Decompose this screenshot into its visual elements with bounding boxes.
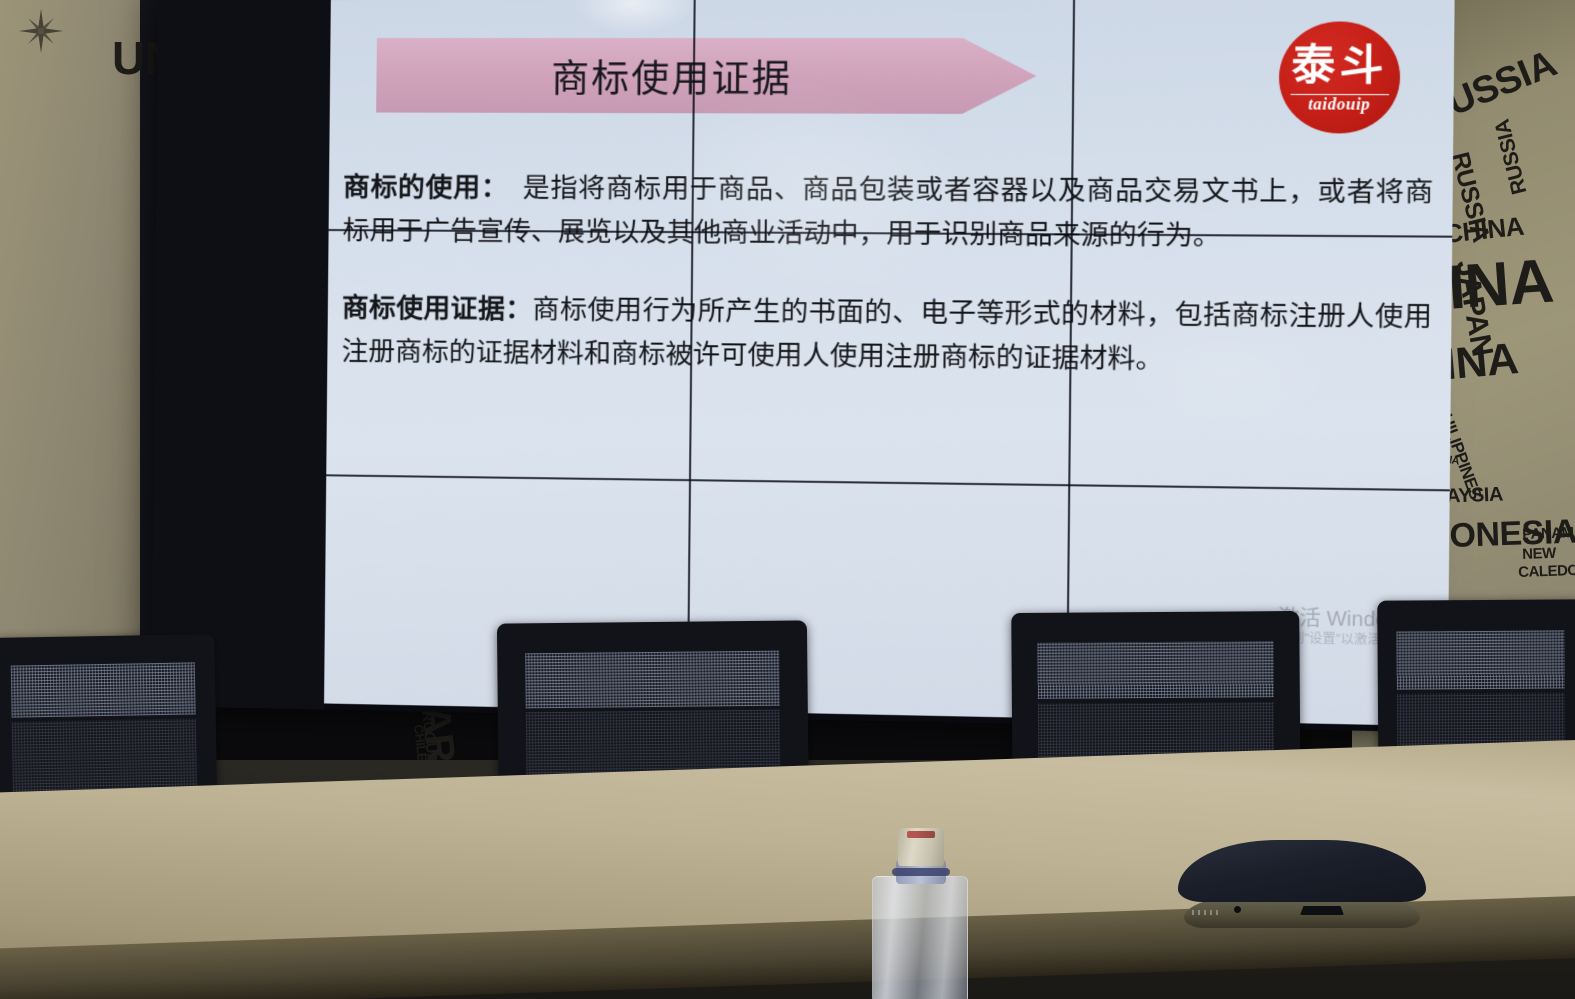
bottle-ring <box>892 868 950 876</box>
panel-seam-horizontal <box>324 474 1450 491</box>
paragraph-lead: 商标的使用： <box>343 172 495 204</box>
wall-decal-word: CALEDONIA <box>1518 563 1575 579</box>
room-photo: UN IARUSSIARUSSIARUSSIAGOLIA CHINACHINAJ… <box>0 0 1575 999</box>
chair-mesh-upper <box>525 650 780 708</box>
company-logo: 泰斗 taidouip <box>1278 21 1400 133</box>
slide-title-banner: 商标使用证据 <box>376 38 1037 114</box>
logo-divider <box>1290 94 1389 96</box>
slide-title: 商标使用证据 <box>551 48 792 103</box>
paragraph: 商标使用证据：商标使用行为所产生的书面的、电子等形式的材料，包括商标注册人使用注… <box>341 287 1432 385</box>
paragraph-lead: 商标使用证据： <box>342 292 533 325</box>
wall-decal-word: PANAMA <box>1522 526 1575 541</box>
logo-chinese-mark: 泰斗 <box>1291 44 1388 87</box>
compass-rose-icon <box>18 8 64 54</box>
video-wall-left-bezel <box>152 0 331 709</box>
chair-mesh-upper <box>11 662 196 717</box>
wall-decal-word: CHILE <box>413 724 428 761</box>
water-bottle[interactable] <box>866 822 971 999</box>
conference-speakerphone[interactable] <box>1178 840 1426 932</box>
bottle-cap <box>898 828 944 866</box>
bottle-cap-brand-mark <box>907 831 935 838</box>
wall-decal-word: NEW <box>1522 547 1556 561</box>
chair-mesh-upper <box>1396 630 1565 689</box>
speakerphone-led-strip <box>1192 910 1218 915</box>
slide-body: 商标的使用： 是指将商标用于商品、商品包装或者容器以及商品交易文书上，或者将商标… <box>341 167 1434 420</box>
logo-wordmark: taidouip <box>1308 96 1371 115</box>
chair-mesh-upper <box>1037 641 1274 699</box>
screen-glare <box>572 0 696 34</box>
paragraph-text: 是指将商标用于商品、商品包装或者容器以及商品交易文书上，或者将商标用于广告宣传、… <box>343 172 1434 251</box>
paragraph: 商标的使用： 是指将商标用于商品、商品包装或者容器以及商品交易文书上，或者将商标… <box>343 167 1434 261</box>
bottle-body <box>872 876 968 999</box>
speakerphone-top-shell <box>1178 840 1426 902</box>
speakerphone-mic-hole <box>1234 906 1241 913</box>
speakerphone-port <box>1300 906 1344 915</box>
